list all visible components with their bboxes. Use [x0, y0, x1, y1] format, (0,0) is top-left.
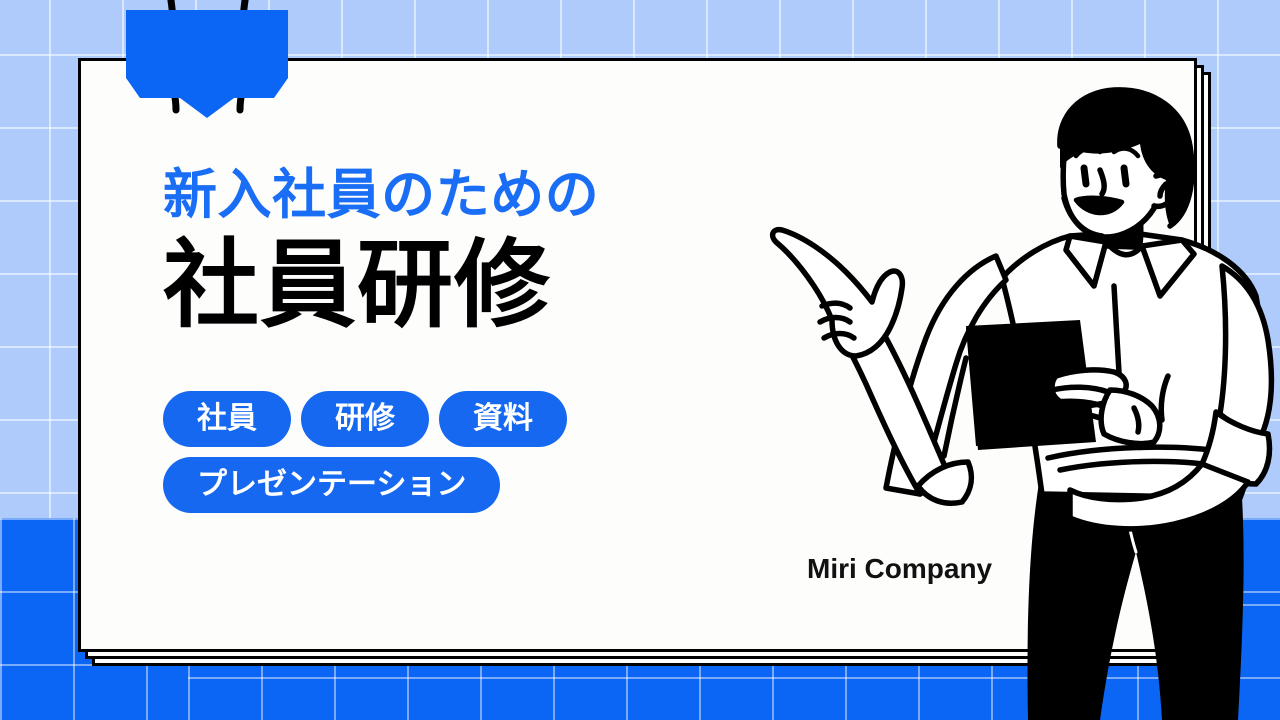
page-title: 社員研修: [163, 236, 723, 337]
tag-list: 社員 研修 資料 プレゼンテーション: [163, 391, 723, 513]
tag-chip[interactable]: 資料: [439, 391, 567, 447]
tag-chip[interactable]: プレゼンテーション: [163, 457, 500, 513]
tag-chip[interactable]: 研修: [301, 391, 429, 447]
tag-chip[interactable]: 社員: [163, 391, 291, 447]
headline-block: 新入社員のための 社員研修 社員 研修 資料 プレゼンテーション: [163, 168, 723, 523]
binder-clip-icon: [124, 0, 290, 118]
subtitle: 新入社員のための: [163, 168, 723, 222]
tag-row-1: 社員 研修 資料: [163, 391, 723, 447]
tag-row-2: プレゼンテーション: [163, 457, 723, 513]
slide-canvas: 新入社員のための 社員研修 社員 研修 資料 プレゼンテーション Miri Co…: [0, 0, 1280, 720]
illustration-man-pointing: [770, 90, 1280, 720]
